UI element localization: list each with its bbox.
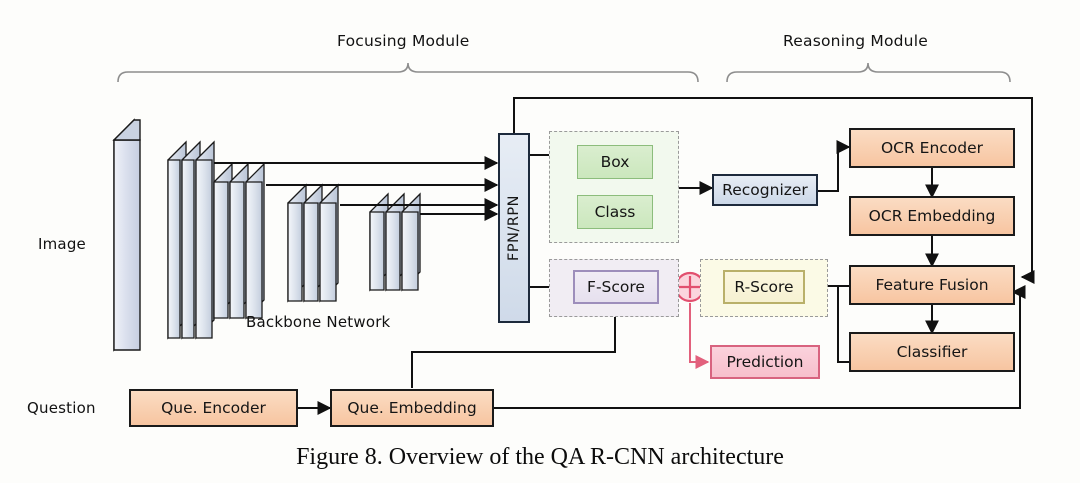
figure-caption: Figure 8. Overview of the QA R-CNN archi…	[0, 444, 1080, 471]
input-label-question: Question	[27, 399, 96, 417]
node-feature-fusion-label: Feature Fusion	[875, 276, 988, 294]
backbone-network-label: Backbone Network	[246, 313, 390, 331]
group-title-focusing: Focusing Module	[337, 32, 470, 50]
node-classifier-label: Classifier	[897, 343, 968, 361]
node-box-label: Box	[601, 153, 630, 171]
brace-reasoning	[727, 63, 1010, 82]
node-prediction[interactable]: Prediction	[710, 345, 820, 379]
node-class-label: Class	[595, 203, 636, 221]
node-recognizer-label: Recognizer	[722, 181, 808, 199]
slab-group-1	[168, 142, 214, 338]
node-f-score[interactable]: F-Score	[573, 270, 659, 304]
node-ocr-encoder-label: OCR Encoder	[881, 139, 983, 157]
recognizer-to-ocr-encoder-arrow	[818, 147, 849, 191]
classifier-to-rscore-line	[838, 286, 849, 362]
node-classifier[interactable]: Classifier	[849, 332, 1015, 372]
node-que-encoder[interactable]: Que. Encoder	[129, 389, 298, 427]
node-fpn-rpn-label: FPN/RPN	[506, 195, 522, 261]
node-ocr-embedding-label: OCR Embedding	[869, 207, 996, 225]
slab-input	[114, 120, 140, 350]
question-to-fscore-line	[412, 312, 615, 388]
node-que-encoder-label: Que. Encoder	[161, 399, 266, 417]
brace-focusing	[118, 63, 698, 82]
figure-canvas: Focusing Module Reasoning Module Image Q…	[0, 0, 1080, 483]
node-box[interactable]: Box	[577, 145, 653, 179]
node-f-score-label: F-Score	[587, 278, 645, 296]
slab-group-2	[214, 164, 264, 318]
node-ocr-encoder[interactable]: OCR Encoder	[849, 128, 1015, 168]
node-que-embedding[interactable]: Que. Embedding	[330, 389, 494, 427]
node-feature-fusion[interactable]: Feature Fusion	[849, 265, 1015, 305]
node-r-score[interactable]: R-Score	[723, 270, 805, 304]
input-label-image: Image	[38, 235, 86, 253]
slab-group-3	[288, 185, 338, 301]
slab-group-4	[370, 194, 420, 290]
group-title-reasoning: Reasoning Module	[783, 32, 928, 50]
node-class[interactable]: Class	[577, 195, 653, 229]
node-que-embedding-label: Que. Embedding	[347, 399, 476, 417]
node-ocr-embedding[interactable]: OCR Embedding	[849, 196, 1015, 236]
node-recognizer[interactable]: Recognizer	[712, 174, 818, 206]
node-prediction-label: Prediction	[726, 353, 803, 371]
node-r-score-label: R-Score	[734, 278, 793, 296]
node-fpn-rpn[interactable]: FPN/RPN	[498, 133, 530, 323]
